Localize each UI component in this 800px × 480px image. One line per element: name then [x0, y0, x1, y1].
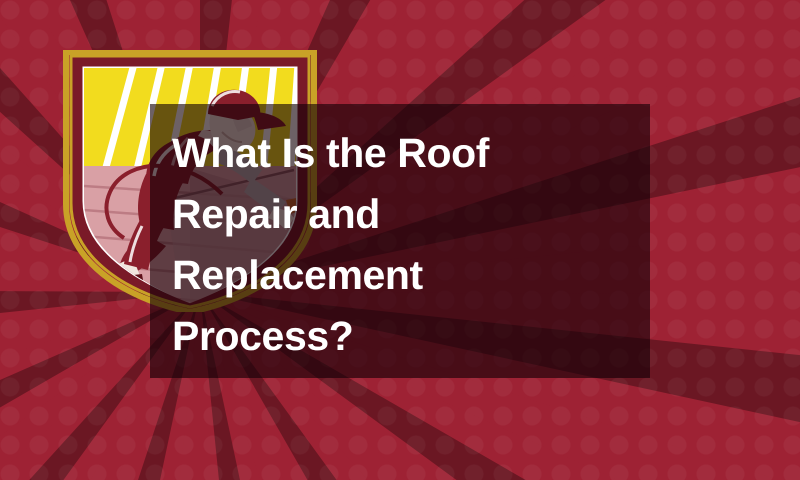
page-title: What Is the Roof Repair and Replacement …: [172, 123, 642, 367]
title-card: What Is the Roof Repair and Replacement …: [0, 0, 800, 480]
